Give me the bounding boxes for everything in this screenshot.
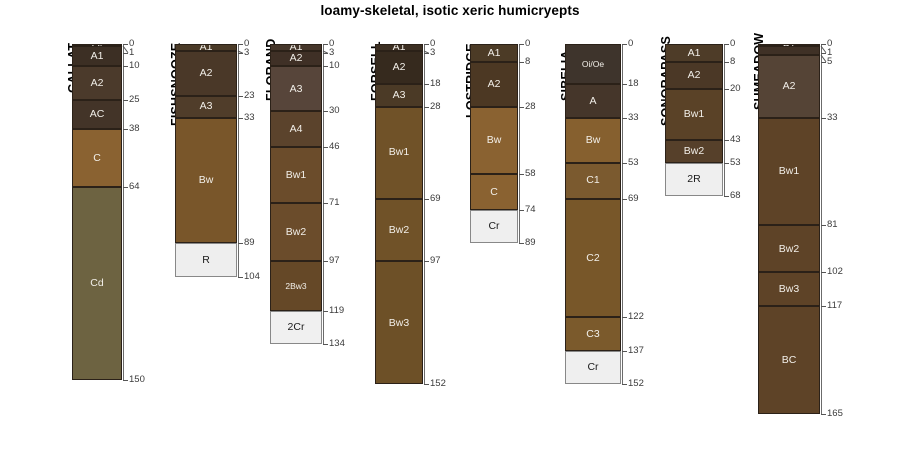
horizon-c2[interactable]: C2	[565, 199, 621, 318]
horizon-bw[interactable]: Bw	[175, 118, 237, 243]
depth-tick-label: 97	[329, 256, 340, 266]
horizon-bw3[interactable]: Bw3	[375, 261, 423, 384]
horizon-c[interactable]: C	[470, 174, 518, 210]
horizon-label: A1	[290, 44, 303, 51]
depth-tick	[622, 317, 627, 318]
depth-tick	[724, 89, 729, 90]
depth-tick-label: 150	[129, 375, 145, 385]
depth-tick	[323, 311, 328, 312]
horizon-label: 2Bw3	[285, 282, 306, 291]
horizon-label: Cr	[587, 362, 598, 373]
horizon-label: Bw3	[389, 318, 409, 329]
depth-tick-label: 165	[827, 409, 843, 419]
horizon-a2[interactable]: A2	[270, 51, 322, 67]
horizon-a2[interactable]: A2	[470, 62, 518, 107]
horizon-a[interactable]: A	[565, 84, 621, 118]
horizon-label: Bw1	[779, 166, 799, 177]
depth-tick-label: 23	[244, 91, 255, 101]
depth-tick-label: 3	[430, 48, 435, 58]
horizon-cd[interactable]: Cd	[72, 187, 122, 380]
depth-tick	[821, 118, 826, 119]
depth-tick	[238, 96, 243, 97]
horizon-label: A1	[488, 48, 501, 59]
depth-tick	[424, 261, 429, 262]
depth-tick	[821, 44, 826, 45]
depth-tick	[519, 44, 524, 45]
depth-tick-label: 152	[628, 379, 644, 389]
horizon-label: Bw1	[286, 170, 306, 181]
depth-tick-label: 28	[525, 102, 536, 112]
depth-tick	[123, 187, 128, 188]
horizon-label: C3	[586, 329, 599, 340]
depth-tick	[123, 44, 128, 45]
horizon-label: Bw	[487, 135, 502, 146]
depth-tick	[238, 44, 243, 45]
depth-tick-label: 33	[628, 113, 639, 123]
depth-axis	[519, 44, 520, 243]
horizon-oioe[interactable]: Oi/Oe	[565, 44, 621, 84]
horizon-bw1[interactable]: Bw1	[758, 118, 820, 226]
horizon-label: Cr	[488, 221, 499, 232]
horizon-label: Bw2	[684, 146, 704, 157]
depth-tick	[238, 243, 243, 244]
depth-tick	[323, 261, 328, 262]
horizon-label: A1	[393, 44, 406, 51]
horizon-label: A2	[783, 81, 796, 92]
horizon-label: A2	[393, 62, 406, 73]
horizon-bw2[interactable]: Bw2	[270, 203, 322, 261]
horizon-label: A3	[200, 101, 213, 112]
horizon-ac[interactable]: AC	[72, 100, 122, 129]
depth-tick-label: 25	[129, 95, 140, 105]
depth-tick-label: 58	[525, 169, 536, 179]
horizon-a1[interactable]: A1	[175, 44, 237, 51]
depth-tick-label: 64	[129, 182, 140, 192]
horizon-label: 2Cr	[288, 322, 305, 333]
depth-tick	[238, 118, 243, 119]
depth-tick	[323, 203, 328, 204]
horizon-a2[interactable]: A2	[175, 51, 237, 96]
depth-tick	[821, 272, 826, 273]
depth-tick-label: 53	[628, 158, 639, 168]
depth-tick-label: 104	[244, 272, 260, 282]
horizon-label: R	[202, 255, 210, 266]
horizon-label: Bw1	[389, 147, 409, 158]
depth-tick-label: 30	[329, 106, 340, 116]
horizon-label: C	[93, 153, 101, 164]
depth-tick-label: 10	[329, 61, 340, 71]
depth-tick	[622, 84, 627, 85]
depth-tick	[821, 225, 826, 226]
chart-title: loamy-skeletal, isotic xeric humicryepts	[0, 3, 900, 18]
depth-tick	[123, 53, 128, 54]
horizon-a4[interactable]: A4	[270, 111, 322, 147]
horizon-bw2[interactable]: Bw2	[375, 199, 423, 262]
depth-tick	[519, 62, 524, 63]
depth-axis	[622, 44, 623, 384]
horizon-a1[interactable]: A1	[270, 44, 322, 51]
depth-tick	[724, 44, 729, 45]
horizon-label: 2R	[687, 174, 700, 185]
depth-tick	[123, 380, 128, 381]
depth-tick-label: 33	[244, 113, 255, 123]
depth-tick	[622, 199, 627, 200]
horizon-label: Bw3	[779, 284, 799, 295]
depth-tick-label: 0	[628, 39, 633, 49]
horizon-bc[interactable]: BC	[758, 306, 820, 414]
depth-tick-label: 5	[827, 57, 832, 67]
horizon-label: Bw	[199, 175, 214, 186]
horizon-label: A2	[688, 70, 701, 81]
depth-tick	[424, 44, 429, 45]
depth-tick-label: 18	[430, 79, 441, 89]
horizon-cr[interactable]: Cr	[565, 351, 621, 385]
horizon-label: A2	[488, 79, 501, 90]
horizon-c[interactable]: C	[72, 129, 122, 187]
depth-tick-label: 71	[329, 198, 340, 208]
depth-tick-label: 46	[329, 142, 340, 152]
depth-tick-label: 152	[430, 379, 446, 389]
depth-tick	[519, 174, 524, 175]
depth-tick-label: 117	[827, 301, 842, 311]
depth-tick-label: 122	[628, 312, 644, 322]
depth-tick-label: 102	[827, 267, 843, 277]
depth-tick-label: 0	[730, 39, 735, 49]
horizon-a1[interactable]: A1	[72, 46, 122, 66]
depth-tick	[821, 53, 826, 54]
depth-axis	[821, 44, 822, 414]
depth-axis	[724, 44, 725, 196]
horizon-label: Bw2	[286, 227, 306, 238]
depth-tick	[424, 384, 429, 385]
depth-tick-label: 69	[430, 194, 441, 204]
depth-axis	[323, 44, 324, 344]
horizon-2r[interactable]: 2R	[665, 163, 723, 197]
depth-tick	[622, 163, 627, 164]
depth-tick	[424, 199, 429, 200]
horizon-label: A2	[290, 53, 303, 64]
horizon-label: A4	[290, 124, 303, 135]
horizon-label: A3	[290, 84, 303, 95]
horizon-unnamed-1[interactable]	[758, 46, 820, 55]
depth-tick	[724, 163, 729, 164]
horizon-bw2[interactable]: Bw2	[665, 140, 723, 162]
horizon-label: AC	[90, 109, 105, 120]
depth-tick	[724, 62, 729, 63]
horizon-2cr[interactable]: 2Cr	[270, 311, 322, 345]
depth-tick	[622, 44, 627, 45]
depth-tick	[238, 277, 243, 278]
horizon-a2[interactable]: A2	[758, 55, 820, 118]
horizon-a3[interactable]: A3	[175, 96, 237, 118]
horizon-a1[interactable]: A1	[375, 44, 423, 51]
depth-tick	[123, 66, 128, 67]
depth-tick-label: 69	[628, 194, 639, 204]
depth-tick-label: 33	[827, 113, 838, 123]
horizon-label: Cd	[90, 278, 103, 289]
horizon-label: C2	[586, 253, 599, 264]
horizon-label: A2	[91, 78, 104, 89]
depth-tick	[519, 243, 524, 244]
depth-axis	[123, 44, 124, 380]
horizon-label: Bw2	[389, 225, 409, 236]
horizon-label: A	[589, 96, 596, 107]
depth-axis	[424, 44, 425, 384]
horizon-label: Bw	[586, 135, 601, 146]
horizon-2bw3[interactable]: 2Bw3	[270, 261, 322, 310]
horizon-bw[interactable]: Bw	[565, 118, 621, 163]
depth-tick	[323, 344, 328, 345]
horizon-bw1[interactable]: Bw1	[270, 147, 322, 203]
depth-tick-label: 8	[730, 57, 735, 67]
horizon-label: A1	[688, 48, 701, 59]
depth-tick	[724, 140, 729, 141]
horizon-c1[interactable]: C1	[565, 163, 621, 199]
depth-tick-label: 74	[525, 205, 536, 215]
horizon-label: Bw2	[779, 244, 799, 255]
depth-tick	[519, 210, 524, 211]
depth-tick	[821, 414, 826, 415]
depth-tick	[622, 118, 627, 119]
depth-tick	[724, 196, 729, 197]
horizon-label: C	[490, 187, 498, 198]
horizon-bw[interactable]: Bw	[470, 107, 518, 174]
horizon-r[interactable]: R	[175, 243, 237, 277]
horizon-bw3[interactable]: Bw3	[758, 272, 820, 306]
depth-tick	[123, 129, 128, 130]
horizon-bw2[interactable]: Bw2	[758, 225, 820, 272]
depth-tick-label: 68	[730, 191, 741, 201]
horizon-a1[interactable]: A1	[665, 44, 723, 62]
horizon-c3[interactable]: C3	[565, 317, 621, 351]
depth-tick-label: 10	[129, 61, 140, 71]
depth-tick	[622, 384, 627, 385]
horizon-label: A1	[91, 51, 104, 62]
depth-tick-label: 134	[329, 339, 345, 349]
depth-tick-label: 43	[730, 135, 741, 145]
horizon-label: A1	[200, 44, 213, 51]
soil-profile-chart: loamy-skeletal, isotic xeric humicryepts…	[0, 0, 900, 450]
depth-tick-label: 8	[525, 57, 530, 67]
horizon-label: BC	[782, 355, 797, 366]
horizon-a3[interactable]: A3	[375, 84, 423, 106]
horizon-label: A3	[393, 90, 406, 101]
depth-tick-label: 0	[525, 39, 530, 49]
depth-tick	[519, 107, 524, 108]
depth-tick-label: 137	[628, 346, 644, 356]
depth-tick-label: 18	[628, 79, 639, 89]
horizon-a3[interactable]: A3	[270, 66, 322, 111]
horizon-bw1[interactable]: Bw1	[665, 89, 723, 141]
horizon-cr[interactable]: Cr	[470, 210, 518, 244]
depth-tick-label: 119	[329, 306, 344, 316]
depth-tick-label: 1	[129, 48, 134, 58]
depth-tick-label: 97	[430, 256, 441, 266]
depth-tick-label: 89	[244, 238, 255, 248]
depth-tick-label: 3	[329, 48, 334, 58]
horizon-a2[interactable]: A2	[72, 66, 122, 100]
depth-axis	[238, 44, 239, 277]
depth-tick	[821, 62, 826, 63]
depth-tick	[323, 111, 328, 112]
horizon-a2[interactable]: A2	[665, 62, 723, 89]
horizon-label: A2	[200, 68, 213, 79]
depth-tick-label: 89	[525, 238, 536, 248]
depth-tick	[424, 84, 429, 85]
horizon-label: Bw1	[684, 109, 704, 120]
horizon-bw1[interactable]: Bw1	[375, 107, 423, 199]
depth-tick-label: 28	[430, 102, 441, 112]
depth-tick	[424, 107, 429, 108]
depth-tick-label: 38	[129, 124, 140, 134]
depth-tick-label: 3	[244, 48, 249, 58]
depth-tick	[323, 66, 328, 67]
depth-tick	[821, 306, 826, 307]
depth-tick	[323, 147, 328, 148]
horizon-a2[interactable]: A2	[375, 51, 423, 85]
horizon-a1[interactable]: A1	[470, 44, 518, 62]
depth-tick-label: 20	[730, 84, 741, 94]
horizon-label: Oi/Oe	[582, 60, 604, 69]
depth-tick-label: 53	[730, 158, 741, 168]
depth-tick	[622, 351, 627, 352]
depth-tick-label: 81	[827, 220, 838, 230]
depth-tick	[123, 100, 128, 101]
horizon-label: C1	[586, 175, 599, 186]
depth-tick	[323, 44, 328, 45]
